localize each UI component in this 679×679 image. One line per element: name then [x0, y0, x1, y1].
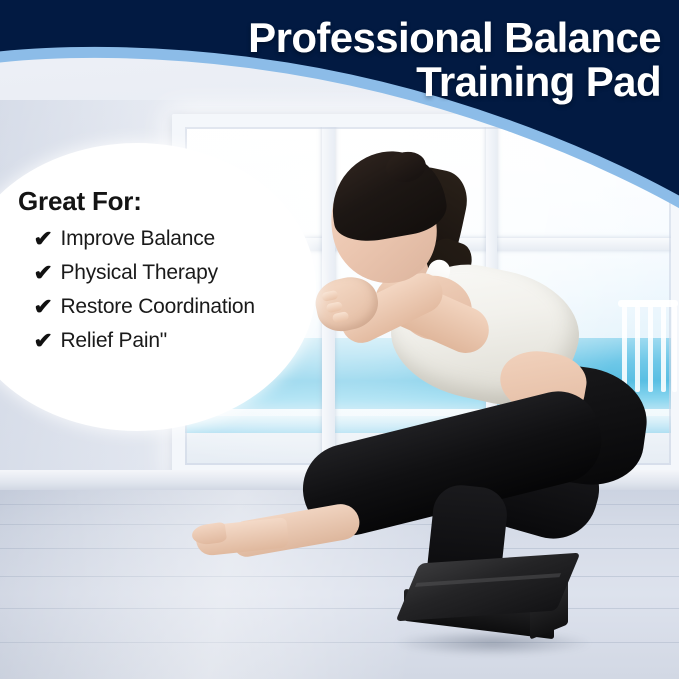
balance-training-pad [402, 558, 574, 654]
check-icon: ✔ [34, 296, 53, 318]
benefit-label: Relief Pain" [60, 329, 167, 353]
title-line-1: Professional Balance [248, 14, 661, 61]
check-icon: ✔ [34, 330, 53, 352]
knuckle [321, 290, 339, 302]
title-line-2: Training Pad [161, 60, 661, 104]
benefit-item-2: ✔ Restore Coordination [34, 295, 318, 319]
product-marketing-image: Professional Balance Training Pad Great … [0, 0, 679, 679]
page-title: Professional Balance Training Pad [161, 16, 661, 104]
callout-heading: Great For: [18, 186, 318, 217]
knuckle [332, 311, 350, 323]
benefit-label: Physical Therapy [60, 261, 218, 285]
benefit-item-3: ✔ Relief Pain" [34, 329, 318, 353]
benefit-item-0: ✔ Improve Balance [34, 227, 318, 251]
callout-content: Great For: ✔ Improve Balance ✔ Physical … [18, 186, 318, 363]
check-icon: ✔ [34, 228, 53, 250]
benefit-label: Improve Balance [60, 227, 215, 251]
benefit-item-1: ✔ Physical Therapy [34, 261, 318, 285]
check-icon: ✔ [34, 262, 53, 284]
benefit-label: Restore Coordination [60, 295, 254, 319]
